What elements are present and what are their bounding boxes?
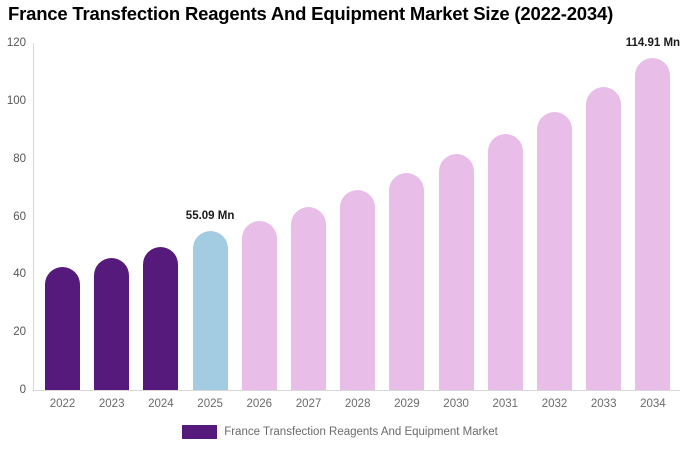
legend-item-0[interactable]: France Transfection Reagents And Equipme… <box>182 425 498 439</box>
bar-2024[interactable] <box>143 247 178 390</box>
legend-label: France Transfection Reagents And Equipme… <box>224 426 498 438</box>
y-axis-tick-40: 40 <box>13 268 26 280</box>
chart-legend: France Transfection Reagents And Equipme… <box>0 425 680 439</box>
bar-2034[interactable] <box>635 58 670 390</box>
y-axis-tick-60: 60 <box>13 211 26 223</box>
y-axis-tick-120: 120 <box>7 37 26 49</box>
y-axis-tick-80: 80 <box>13 153 26 165</box>
x-axis-line <box>33 390 680 391</box>
bar-2022[interactable] <box>45 267 80 390</box>
bar-2031[interactable] <box>488 134 523 390</box>
bar-2027[interactable] <box>291 207 326 390</box>
bar-2032[interactable] <box>537 112 572 390</box>
y-axis-tick-20: 20 <box>13 326 26 338</box>
bar-2030[interactable] <box>439 154 474 390</box>
bar-2023[interactable] <box>94 258 129 390</box>
legend-swatch-icon <box>182 425 217 439</box>
chart-container: France Transfection Reagents And Equipme… <box>0 0 680 450</box>
plot-area: 020406080100120 55.09 Mn114.91 Mn <box>33 43 680 390</box>
bar-2033[interactable] <box>586 87 621 390</box>
bar-2026[interactable] <box>242 221 277 390</box>
value-label-2034: 114.91 Mn <box>623 37 680 49</box>
bar-2025[interactable] <box>193 231 228 390</box>
chart-title: France Transfection Reagents And Equipme… <box>8 3 680 25</box>
bar-2028[interactable] <box>340 190 375 390</box>
y-axis-tick-100: 100 <box>7 95 26 107</box>
value-label-2025: 55.09 Mn <box>180 210 240 222</box>
bar-2029[interactable] <box>389 173 424 390</box>
y-axis-tick-0: 0 <box>20 384 26 396</box>
x-axis-tick-2034: 2034 <box>623 398 680 410</box>
